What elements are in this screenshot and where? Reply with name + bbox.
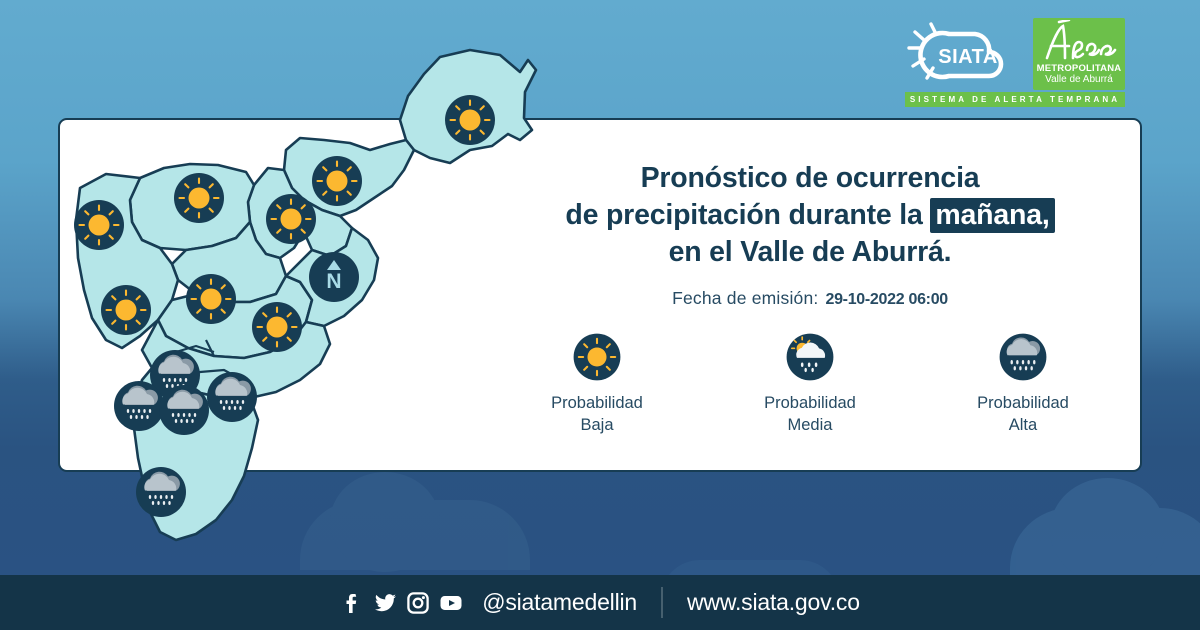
twitter-icon[interactable] bbox=[373, 591, 397, 615]
logo-bar: SIATA METROPOLITANA Valle de Aburrá SIST… bbox=[905, 18, 1125, 110]
marker-copacabana bbox=[266, 194, 316, 244]
footer-bar: @siatamedellin www.siata.gov.co bbox=[0, 575, 1200, 630]
marker-sabaneta bbox=[159, 385, 209, 435]
area-line2: Valle de Aburrá bbox=[1045, 74, 1113, 85]
legend-label-alta: Probabilidad Alta bbox=[977, 392, 1069, 436]
footer-divider bbox=[661, 587, 663, 618]
legend-item-alta: Probabilidad Alta bbox=[961, 331, 1086, 436]
marker-medellin bbox=[186, 274, 236, 324]
legend-baja-line2: Baja bbox=[551, 414, 643, 436]
legend-alta-line2: Alta bbox=[977, 414, 1069, 436]
legend-media-line2: Media bbox=[764, 414, 856, 436]
rain-cloud-icon bbox=[997, 331, 1049, 383]
legend-alta-line1: Probabilidad bbox=[977, 392, 1069, 414]
legend-baja-line1: Probabilidad bbox=[551, 392, 643, 414]
marker-girardota bbox=[312, 156, 362, 206]
page-title: Pronóstico de ocurrencia de precipitació… bbox=[500, 160, 1120, 271]
facebook-icon[interactable] bbox=[340, 591, 364, 615]
probability-legend: Probabilidad Baja bbox=[500, 331, 1120, 436]
forecast-content: Pronóstico de ocurrencia de precipitació… bbox=[500, 160, 1120, 436]
marker-bello bbox=[174, 173, 224, 223]
marker-barbosa bbox=[445, 95, 495, 145]
issue-date-value: 29-10-2022 06:00 bbox=[825, 291, 947, 309]
area-line1: METROPOLITANA bbox=[1037, 63, 1122, 74]
sun-rain-cloud-icon bbox=[784, 331, 836, 383]
siata-wordmark: SIATA bbox=[938, 46, 998, 68]
title-line-3: en el Valle de Aburrá. bbox=[500, 234, 1120, 271]
tagline-text: SISTEMA DE ALERTA TEMPRANA bbox=[910, 95, 1120, 104]
legend-label-media: Probabilidad Media bbox=[764, 392, 856, 436]
marker-girardot-east bbox=[207, 372, 257, 422]
marker-envigado bbox=[252, 302, 302, 352]
siata-logo-icon: SIATA bbox=[905, 18, 1031, 90]
issue-date-label: Fecha de emisión: bbox=[672, 288, 818, 309]
social-links bbox=[340, 591, 463, 615]
sun-icon bbox=[571, 331, 623, 383]
social-handle[interactable]: @siatamedellin bbox=[482, 589, 637, 616]
marker-caldas bbox=[136, 467, 186, 517]
legend-label-baja: Probabilidad Baja bbox=[551, 392, 643, 436]
title-highlight: mañana, bbox=[930, 198, 1054, 233]
marker-la-estrella bbox=[114, 381, 164, 431]
issue-date-row: Fecha de emisión: 29-10-2022 06:00 bbox=[500, 288, 1120, 309]
website-url[interactable]: www.siata.gov.co bbox=[687, 589, 860, 616]
legend-item-media: Probabilidad Media bbox=[748, 331, 873, 436]
legend-item-baja: Probabilidad Baja bbox=[535, 331, 660, 436]
youtube-icon[interactable] bbox=[439, 591, 463, 615]
title-line-1: Pronóstico de ocurrencia bbox=[500, 160, 1120, 197]
area-metropolitana-logo: METROPOLITANA Valle de Aburrá bbox=[1033, 18, 1125, 90]
marker-san-jeronimo bbox=[101, 285, 151, 335]
instagram-icon[interactable] bbox=[406, 591, 430, 615]
marker-san-pedro bbox=[74, 200, 124, 250]
svg-text:N: N bbox=[326, 270, 341, 293]
legend-media-line1: Probabilidad bbox=[764, 392, 856, 414]
title-line-2: de precipitación durante la mañana, bbox=[500, 197, 1120, 234]
compass-north: N bbox=[309, 252, 359, 302]
tagline-bar: SISTEMA DE ALERTA TEMPRANA bbox=[905, 92, 1125, 107]
area-script-icon bbox=[1039, 20, 1119, 64]
title-line-2-text: de precipitación durante la bbox=[565, 199, 930, 231]
